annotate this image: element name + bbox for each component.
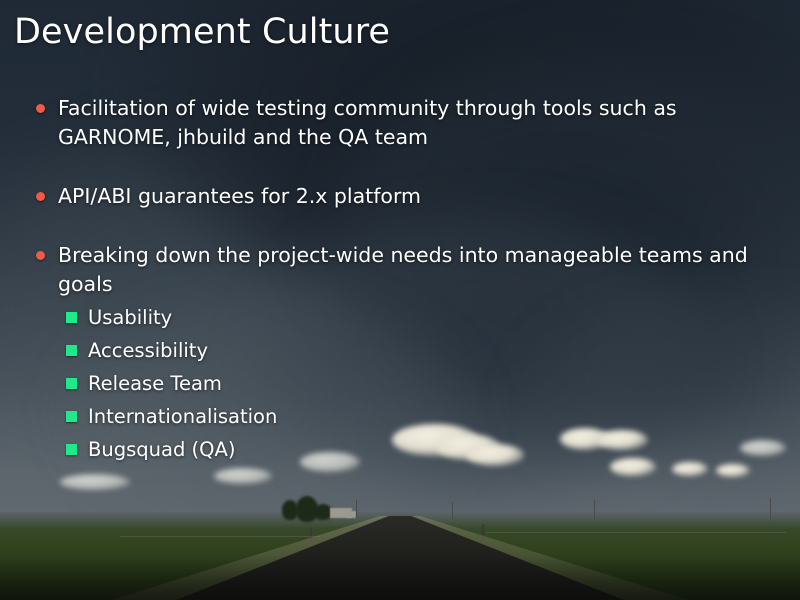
sub-bullet-text: Usability <box>88 306 172 329</box>
green-square-bullet-icon <box>66 345 77 356</box>
slide-body-bullet-list: Facilitation of wide testing community t… <box>36 94 778 466</box>
sub-bullet-item: Release Team <box>58 367 778 400</box>
orange-dot-bullet-icon <box>36 251 45 260</box>
bullet-item: Breaking down the project-wide needs int… <box>36 241 778 466</box>
green-square-bullet-icon <box>66 312 77 323</box>
slide-title: Development Culture <box>14 12 390 52</box>
sub-bullet-item: Internationalisation <box>58 400 778 433</box>
sub-bullet-item: Usability <box>58 301 778 334</box>
sub-bullet-list: Usability Accessibility Release Team Int… <box>58 301 778 466</box>
sub-bullet-text: Accessibility <box>88 339 208 362</box>
green-square-bullet-icon <box>66 378 77 389</box>
bullet-text: Breaking down the project-wide needs int… <box>58 243 748 296</box>
sub-bullet-text: Bugsquad (QA) <box>88 438 235 461</box>
sub-bullet-item: Bugsquad (QA) <box>58 433 778 466</box>
orange-dot-bullet-icon <box>36 192 45 201</box>
orange-dot-bullet-icon <box>36 104 45 113</box>
bullet-text: API/ABI guarantees for 2.x platform <box>58 184 421 208</box>
green-square-bullet-icon <box>66 444 77 455</box>
bullet-text: Facilitation of wide testing community t… <box>58 96 677 149</box>
presentation-slide: Development Culture Facilitation of wide… <box>0 0 800 600</box>
sub-bullet-text: Internationalisation <box>88 405 277 428</box>
bullet-item: API/ABI guarantees for 2.x platform <box>36 182 778 211</box>
sub-bullet-text: Release Team <box>88 372 222 395</box>
slide-content: Development Culture Facilitation of wide… <box>0 0 800 600</box>
sub-bullet-item: Accessibility <box>58 334 778 367</box>
green-square-bullet-icon <box>66 411 77 422</box>
bullet-item: Facilitation of wide testing community t… <box>36 94 778 152</box>
